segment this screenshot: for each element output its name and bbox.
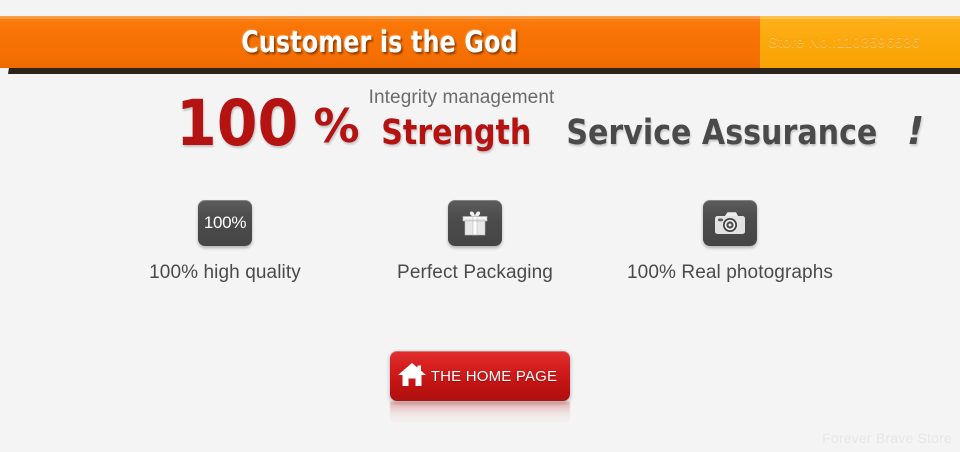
headline-subtitle: Integrity management <box>369 88 925 108</box>
feature-item-quality: 100% 100% high quality <box>100 200 350 284</box>
headline-inner: 100 % Integrity management Strength Serv… <box>176 86 924 151</box>
banner-title: Customer is the God <box>242 25 518 59</box>
headline-service-assurance: Service Assurance <box>566 113 877 153</box>
house-icon <box>397 361 427 391</box>
headline-main-row: Strength Service Assurance ! <box>369 109 925 153</box>
banner-side-section: Store No.:1103596536 <box>760 16 960 68</box>
feature-label-packaging: Perfect Packaging <box>397 262 553 284</box>
headline-text-stack: Integrity management Strength Service As… <box>369 88 925 153</box>
gift-box-icon <box>448 200 502 246</box>
feature-label-photographs: 100% Real photographs <box>627 262 833 284</box>
home-page-button-label: THE HOME PAGE <box>431 368 558 385</box>
feature-item-packaging: Perfect Packaging <box>350 200 600 284</box>
home-button-reflection <box>390 402 570 424</box>
feature-label-quality: 100% high quality <box>149 262 301 284</box>
headline-exclamation: ! <box>907 109 924 153</box>
home-button-area: THE HOME PAGE <box>0 351 960 424</box>
store-number: Store No.:1103596536 <box>760 34 920 51</box>
camera-icon <box>703 200 757 246</box>
banner-main-section: Customer is the God <box>0 16 760 68</box>
feature-list: 100% 100% high quality Perfect Packaging <box>0 200 960 284</box>
headline-percent-symbol: % <box>314 103 360 149</box>
hundred-percent-icon-label: 100% <box>204 213 246 233</box>
store-watermark: Forever Brave Store <box>822 430 952 446</box>
home-page-button[interactable]: THE HOME PAGE <box>390 351 570 401</box>
top-banner: Customer is the God Store No.:1103596536 <box>0 16 960 68</box>
banner-bar: Customer is the God Store No.:1103596536 <box>0 16 960 68</box>
hundred-percent-icon: 100% <box>198 200 252 246</box>
headline-strength: Strength <box>381 113 531 153</box>
feature-item-photographs: 100% Real photographs <box>600 200 860 284</box>
headline-block: 100 % Integrity management Strength Serv… <box>0 86 960 176</box>
headline-number: 100 <box>176 92 298 155</box>
